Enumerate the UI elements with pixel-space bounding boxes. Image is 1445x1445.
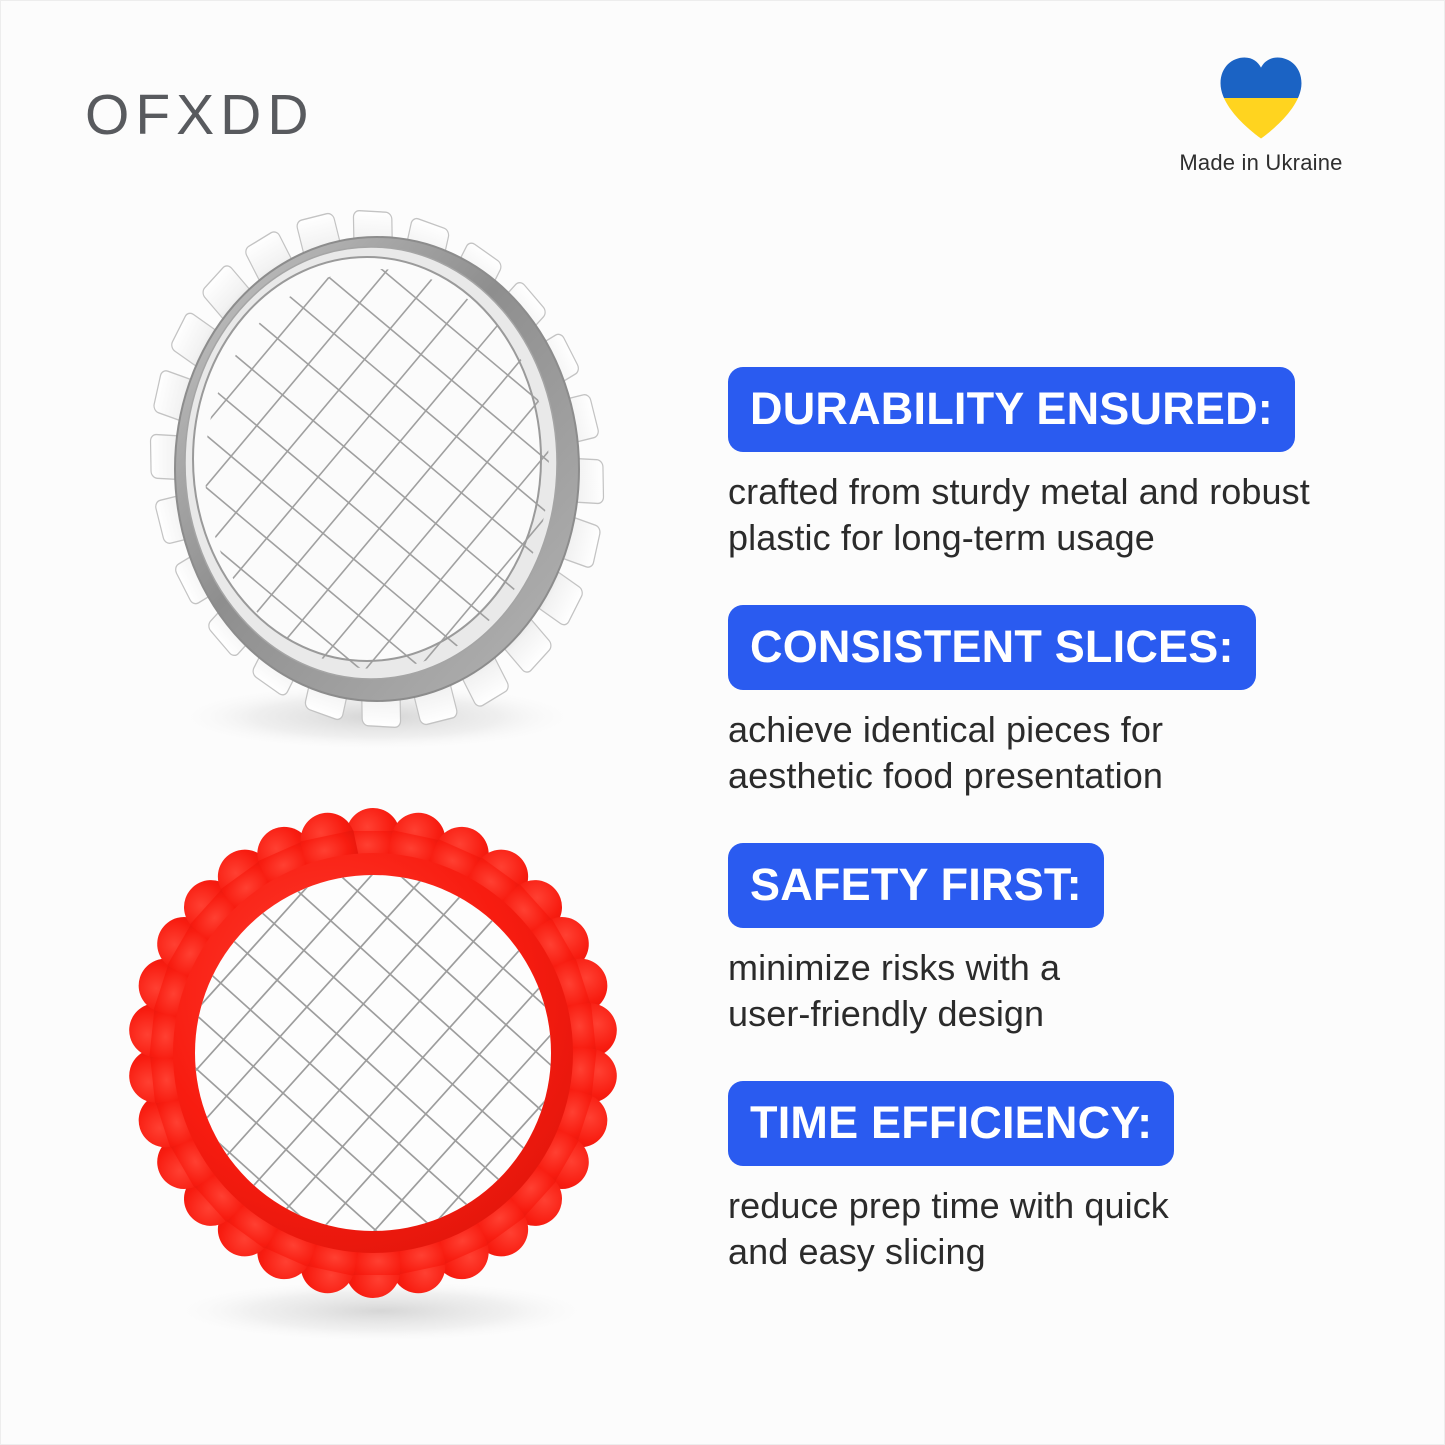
feature-item-consistent-slices: CONSISTENT SLICES: achieve identical pie… [728,605,1388,799]
product-image-metal-grid-cutter [105,201,645,761]
feature-line: achieve identical pieces for [728,707,1388,753]
brand-logo: OFXDD [85,87,315,144]
product-image-red-grid-cutter [101,791,661,1361]
feature-badge-safety: SAFETY FIRST: [728,843,1104,928]
feature-line: and easy slicing [728,1229,1388,1275]
product-infographic: OFXDD Made in Ukraine [0,0,1445,1445]
feature-line: user-friendly design [728,991,1388,1037]
feature-description-safety: minimize risks with a user-friendly desi… [728,945,1388,1037]
feature-description-consistent-slices: achieve identical pieces for aesthetic f… [728,707,1388,799]
feature-item-safety: SAFETY FIRST: minimize risks with a user… [728,843,1388,1037]
heart-icon [1215,53,1307,143]
feature-line: aesthetic food presentation [728,753,1388,799]
feature-description-durability: crafted from sturdy metal and robust pla… [728,469,1388,561]
feature-line: reduce prep time with quick [728,1183,1388,1229]
feature-line: crafted from sturdy metal and robust [728,469,1388,515]
feature-badge-durability: DURABILITY ENSURED: [728,367,1295,452]
feature-badge-time-efficiency: TIME EFFICIENCY: [728,1081,1174,1166]
feature-badge-consistent-slices: CONSISTENT SLICES: [728,605,1256,690]
feature-description-time-efficiency: reduce prep time with quick and easy sli… [728,1183,1388,1275]
feature-line: plastic for long-term usage [728,515,1388,561]
feature-line: minimize risks with a [728,945,1388,991]
feature-list: DURABILITY ENSURED: crafted from sturdy … [728,367,1388,1275]
made-in-ukraine-label: Made in Ukraine [1164,150,1358,176]
made-in-ukraine-badge: Made in Ukraine [1164,53,1358,176]
feature-item-time-efficiency: TIME EFFICIENCY: reduce prep time with q… [728,1081,1388,1275]
feature-item-durability: DURABILITY ENSURED: crafted from sturdy … [728,367,1388,561]
